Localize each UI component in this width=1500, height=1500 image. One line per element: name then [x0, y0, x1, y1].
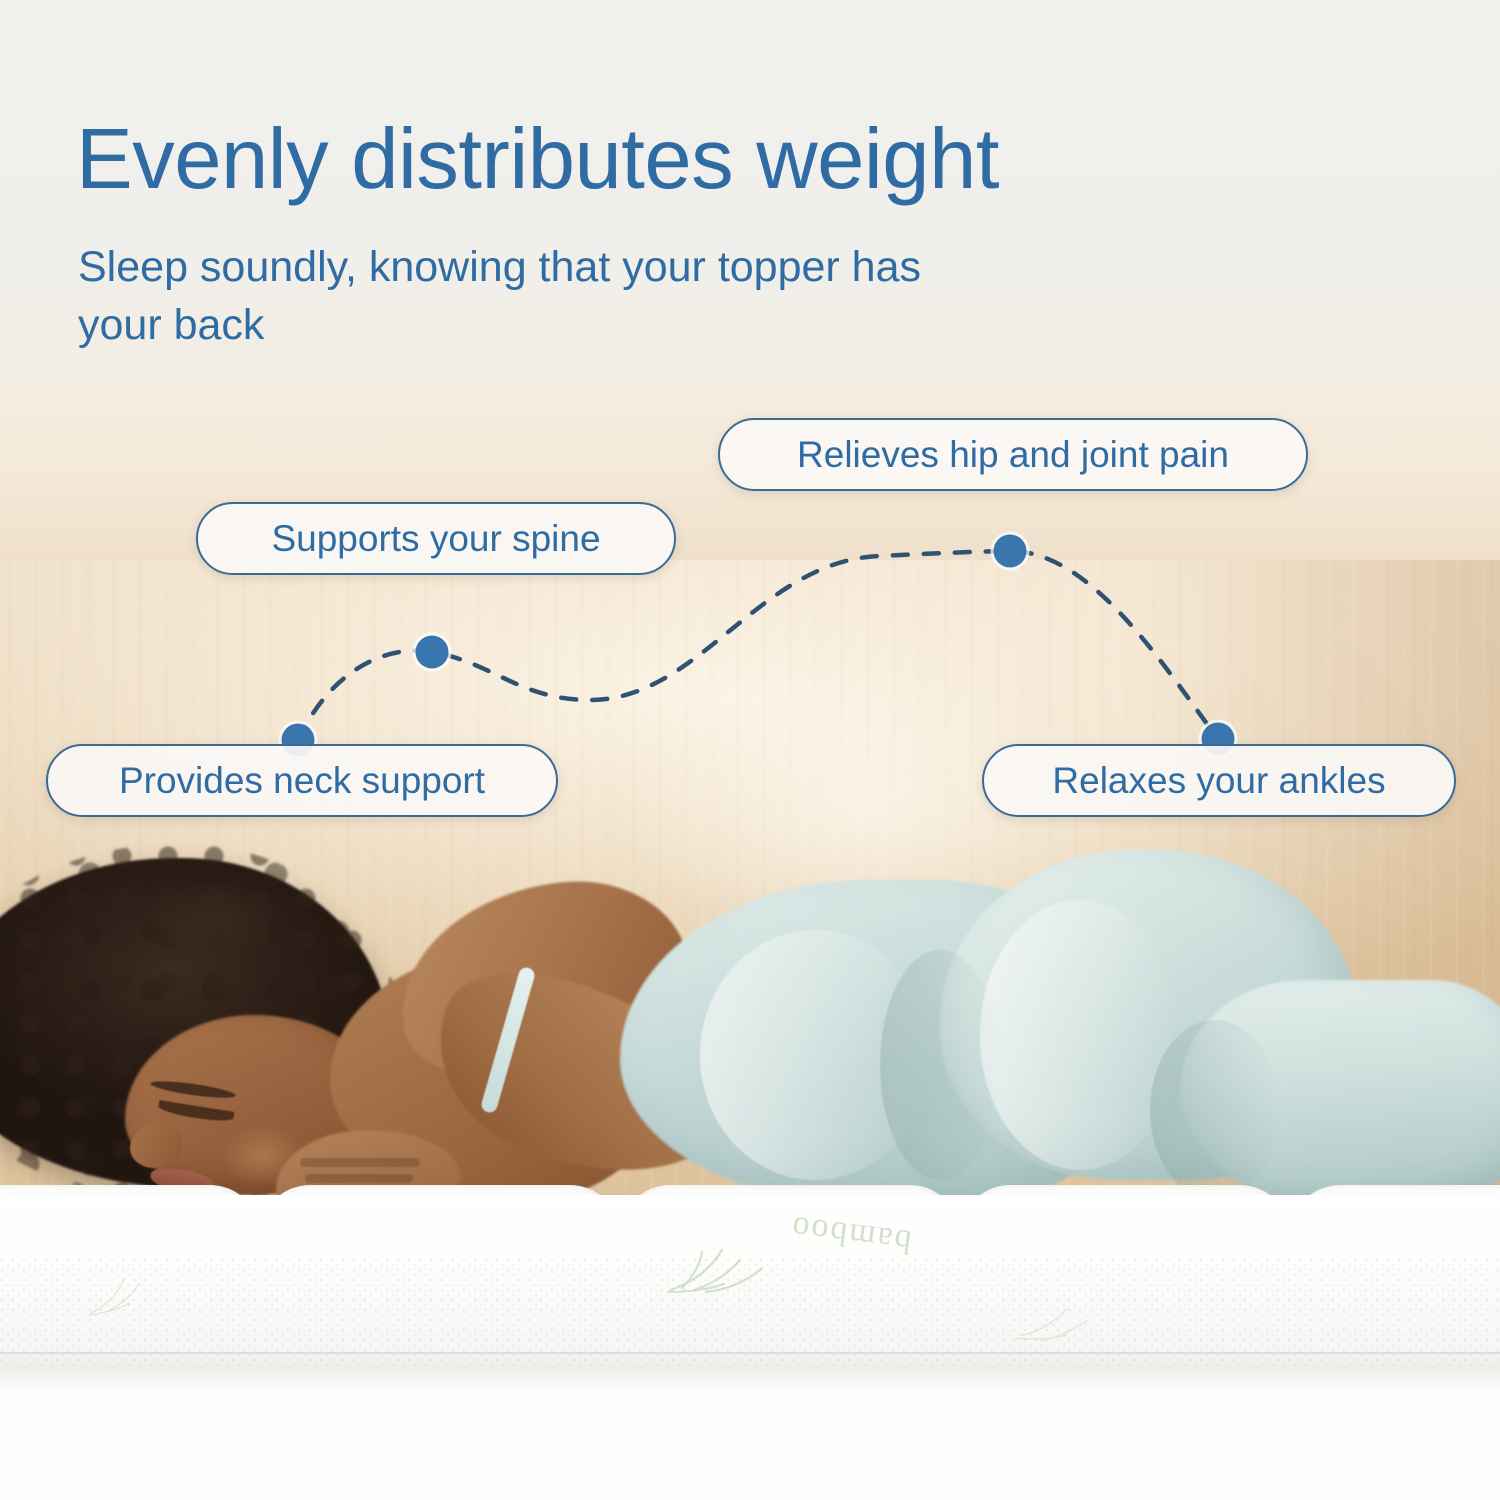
product-feature-graphic: bamboo Evenly	[0, 0, 1500, 1500]
callout-supports-your-spine[interactable]: Supports your spine	[196, 502, 676, 575]
callout-provides-neck-support[interactable]: Provides neck support	[46, 744, 558, 817]
callout-overlay: Evenly distributes weight Sleep soundly,…	[0, 0, 1500, 1500]
callout-relieves-hip-and-joint-pain[interactable]: Relieves hip and joint pain	[718, 418, 1308, 491]
page-subtitle: Sleep soundly, knowing that your topper …	[78, 239, 978, 354]
joint-dot-halo	[413, 633, 452, 672]
callout-relaxes-your-ankles[interactable]: Relaxes your ankles	[982, 744, 1456, 817]
joint-dot-spine[interactable]	[416, 636, 449, 669]
page-title: Evenly distributes weight	[76, 117, 999, 202]
callout-label: Relaxes your ankles	[1052, 760, 1385, 802]
posture-dashed-curve	[298, 551, 1218, 740]
joint-dot-hip[interactable]	[994, 535, 1027, 568]
callout-label: Supports your spine	[271, 518, 600, 560]
callout-label: Provides neck support	[119, 760, 485, 802]
joint-dot-halo	[991, 532, 1030, 571]
callout-label: Relieves hip and joint pain	[797, 434, 1229, 476]
